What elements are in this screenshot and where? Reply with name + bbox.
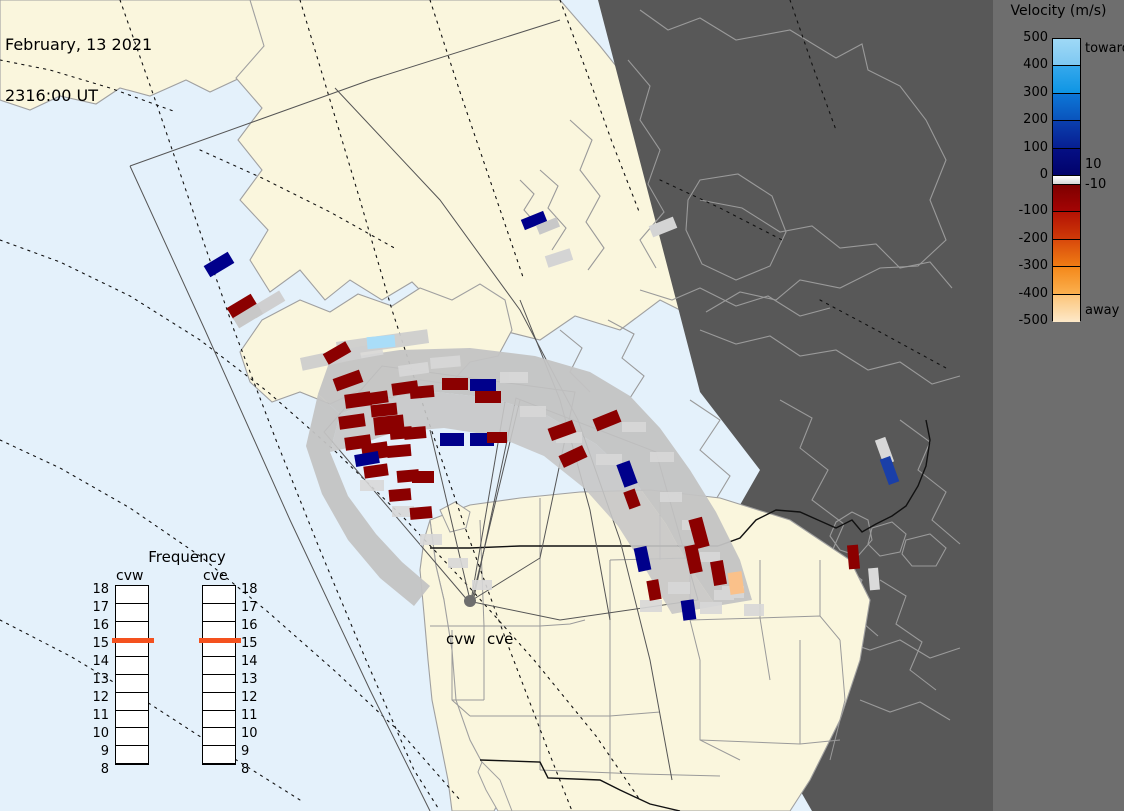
- velocity-cell[interactable]: [475, 391, 501, 403]
- frequency-cell: [116, 728, 148, 746]
- colorbar-segment-400-300: [1053, 66, 1080, 93]
- velocity-cell[interactable]: [470, 379, 496, 391]
- frequency-scale-label-14: 14: [241, 653, 267, 671]
- velocity-cell[interactable]: [410, 385, 435, 399]
- colorbar-segment-100-0: [1053, 149, 1080, 176]
- colorbar-gradient[interactable]: [1052, 38, 1081, 321]
- frequency-scale-label-18: 18: [241, 581, 267, 599]
- velocity-cell[interactable]: [387, 444, 412, 458]
- velocity-cell[interactable]: [410, 506, 433, 520]
- colorbar-segment-200-100: [1053, 121, 1080, 148]
- frequency-cell: [116, 657, 148, 675]
- frequency-scale-label-18: 18: [83, 581, 109, 599]
- colorbar-segment--200--300: [1053, 240, 1080, 267]
- colorbar-tick-400: 400: [1023, 57, 1048, 72]
- colorbar-tick-100: 100: [1023, 140, 1048, 155]
- frequency-scale-label-17: 17: [241, 599, 267, 617]
- frequency-scale-label-13: 13: [83, 671, 109, 689]
- colorbar-inner-low-label: -10: [1085, 177, 1106, 192]
- frequency-scale-label-13: 13: [241, 671, 267, 689]
- frequency-scale-label-14: 14: [83, 653, 109, 671]
- colorbar-tick-500: 500: [1023, 30, 1048, 45]
- colorbar-tick--300: -300: [1018, 258, 1048, 273]
- frequency-cell: [116, 675, 148, 693]
- frequency-column-header-cvw: cvw: [116, 568, 143, 584]
- velocity-cell[interactable]: [440, 433, 464, 446]
- map-canvas[interactable]: February, 13 2021 2316:00 UT cvw cve Fre…: [0, 0, 993, 811]
- velocity-cell[interactable]: [487, 432, 507, 443]
- frequency-scale-label-10: 10: [241, 725, 267, 743]
- frequency-scale-label-11: 11: [83, 707, 109, 725]
- velocity-cell[interactable]: [412, 471, 434, 483]
- frequency-cell: [116, 604, 148, 622]
- frequency-column-header-cve: cve: [203, 568, 228, 584]
- frequency-scale-label-8: 8: [241, 761, 267, 779]
- site-label-cve: cve: [487, 630, 513, 648]
- frequency-marker-cve: [199, 638, 241, 643]
- colorbar-segment--100--200: [1053, 212, 1080, 239]
- frequency-legend: Frequency cvw cve 18171615141312111098 1…: [85, 548, 325, 783]
- frequency-cell: [116, 746, 148, 764]
- frequency-legend-title: Frequency: [107, 548, 267, 566]
- frequency-bar-cvw[interactable]: [115, 585, 149, 765]
- colorbar-tick--100: -100: [1018, 203, 1048, 218]
- frequency-scale-label-10: 10: [83, 725, 109, 743]
- frequency-cell: [116, 711, 148, 729]
- velocity-cell[interactable]: [681, 599, 697, 621]
- velocity-colorbar-panel: Velocity (m/s) 5004003002001000-100-200-…: [993, 0, 1124, 811]
- frequency-cell: [203, 675, 235, 693]
- radar-site-dot[interactable]: [464, 595, 476, 607]
- frequency-scale-label-12: 12: [241, 689, 267, 707]
- frequency-cell: [116, 586, 148, 604]
- colorbar-tick--400: -400: [1018, 286, 1048, 301]
- velocity-cell[interactable]: [847, 545, 860, 570]
- frequency-bar-cve[interactable]: [202, 585, 236, 765]
- page-title: February, 13 2021 2316:00 UT: [5, 2, 152, 138]
- frequency-cell: [203, 746, 235, 764]
- colorbar-segment--300--400: [1053, 267, 1080, 294]
- title-time: 2316:00 UT: [5, 87, 152, 104]
- colorbar-segment-0--100: [1053, 185, 1080, 212]
- velocity-cell[interactable]: [404, 426, 427, 440]
- frequency-scale-labels-right: 18171615141312111098: [241, 581, 267, 779]
- velocity-cell[interactable]: [442, 378, 468, 390]
- colorbar-toward-label: toward: [1085, 41, 1124, 56]
- frequency-scale-label-12: 12: [83, 689, 109, 707]
- site-label-cvw: cvw: [446, 630, 475, 648]
- frequency-cell: [203, 711, 235, 729]
- frequency-scale-label-16: 16: [83, 617, 109, 635]
- colorbar-away-label: away: [1085, 303, 1119, 318]
- frequency-scale-label-17: 17: [83, 599, 109, 617]
- frequency-marker-cvw: [112, 638, 154, 643]
- colorbar-tick-300: 300: [1023, 85, 1048, 100]
- frequency-cell: [116, 693, 148, 711]
- colorbar-inner-high-label: 10: [1085, 157, 1102, 172]
- velocity-cell[interactable]: [868, 568, 880, 591]
- frequency-scale-label-15: 15: [83, 635, 109, 653]
- colorbar-tick-0: 0: [1040, 167, 1048, 182]
- colorbar-tick--500: -500: [1018, 313, 1048, 328]
- frequency-scale-label-16: 16: [241, 617, 267, 635]
- frequency-scale-label-9: 9: [83, 743, 109, 761]
- colorbar-segment--400--500: [1053, 295, 1080, 322]
- velocity-cell[interactable]: [367, 335, 396, 349]
- colorbar-segment-500-400: [1053, 39, 1080, 66]
- colorbar-segment-300-200: [1053, 94, 1080, 121]
- frequency-cell: [203, 657, 235, 675]
- frequency-scale-label-11: 11: [241, 707, 267, 725]
- frequency-cell: [203, 693, 235, 711]
- colorbar-title: Velocity (m/s): [991, 3, 1124, 19]
- frequency-cell: [203, 604, 235, 622]
- frequency-scale-labels-left: 18171615141312111098: [83, 581, 109, 779]
- radar-map-screenshot: February, 13 2021 2316:00 UT cvw cve Fre…: [0, 0, 1124, 811]
- colorbar-segment-0-gap: [1053, 176, 1080, 185]
- colorbar-tick--200: -200: [1018, 231, 1048, 246]
- frequency-cell: [203, 728, 235, 746]
- frequency-scale-label-8: 8: [83, 761, 109, 779]
- frequency-cell: [203, 586, 235, 604]
- colorbar-tick-200: 200: [1023, 112, 1048, 127]
- velocity-cell[interactable]: [389, 488, 412, 502]
- title-date: February, 13 2021: [5, 36, 152, 53]
- frequency-scale-label-9: 9: [241, 743, 267, 761]
- frequency-scale-label-15: 15: [241, 635, 267, 653]
